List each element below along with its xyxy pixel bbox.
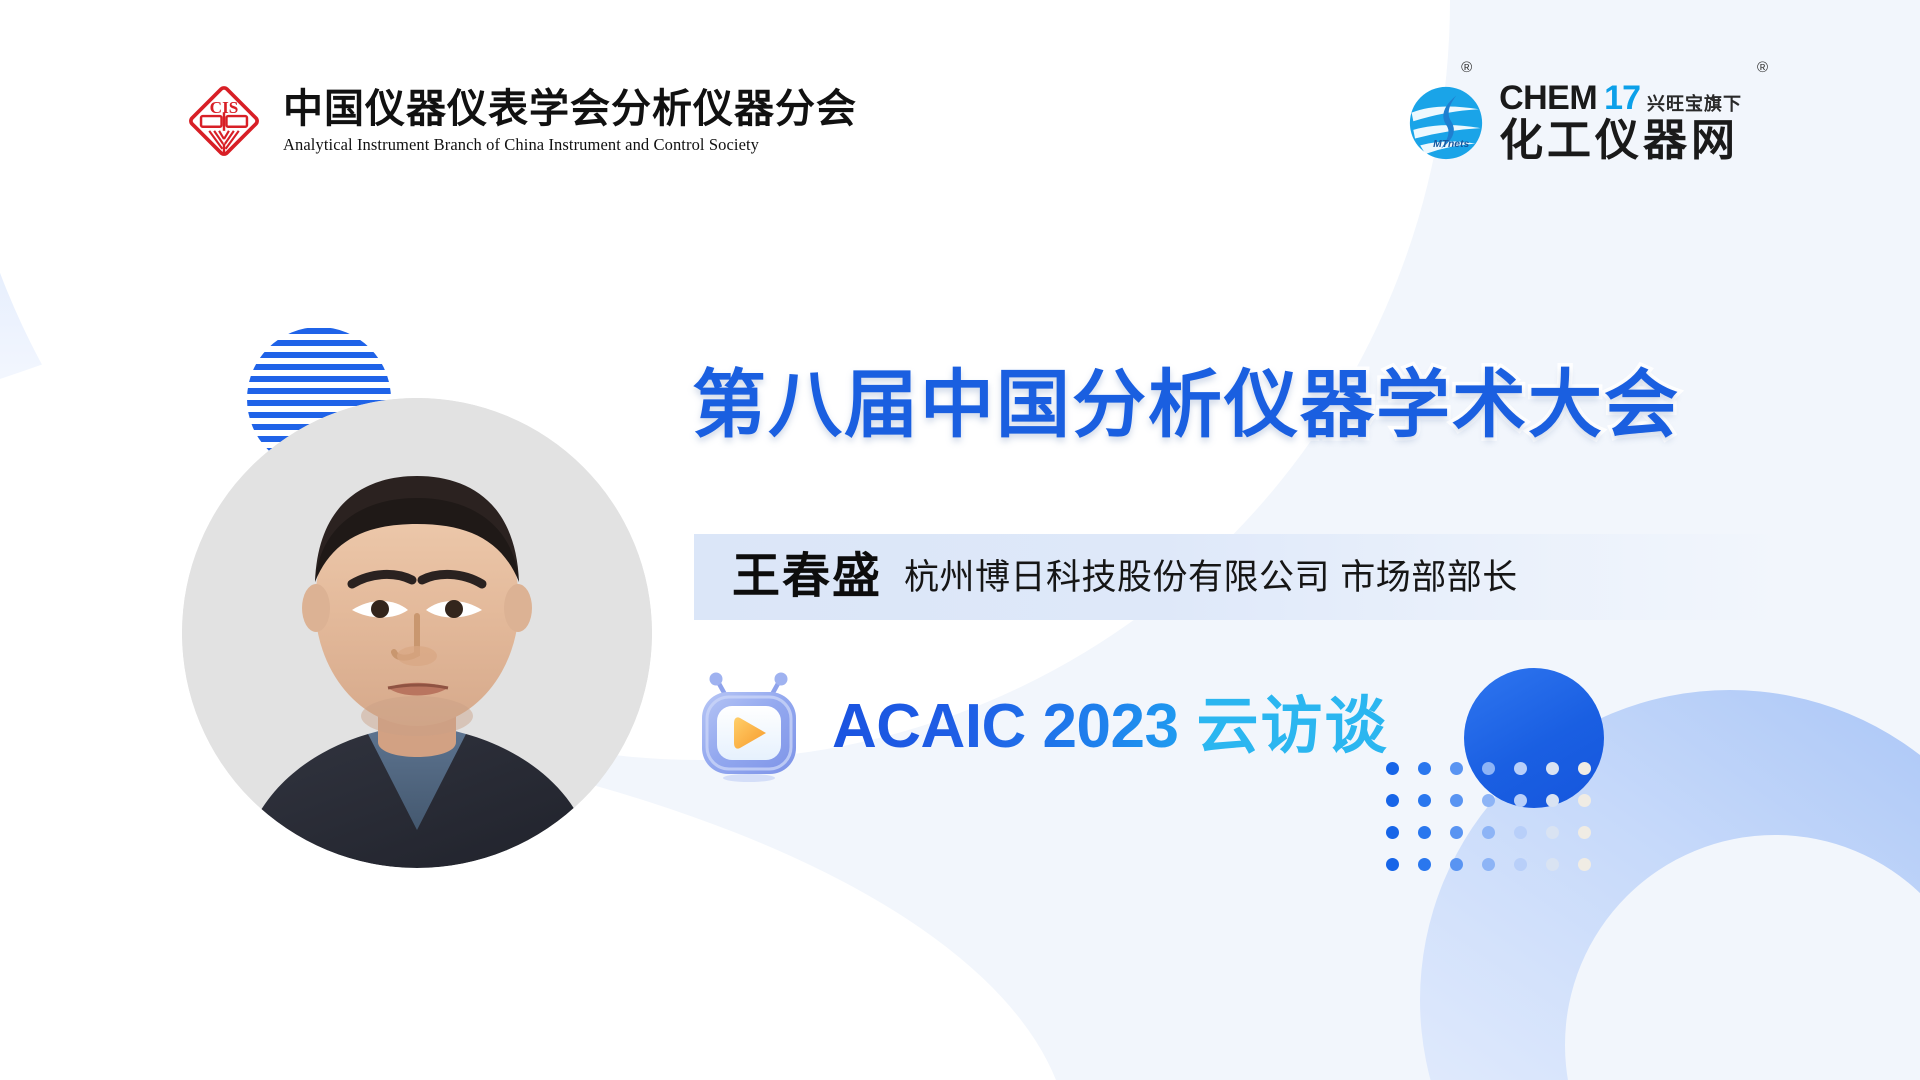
- dot-grid-dot: [1546, 858, 1559, 871]
- dot-grid-dot: [1482, 794, 1495, 807]
- speaker-affiliation: 杭州博日科技股份有限公司 市场部部长: [904, 560, 1518, 595]
- dot-grid-dot: [1578, 826, 1591, 839]
- dot-grid-dot: [1546, 794, 1559, 807]
- poster-stage: CIS 中国仪器仪表学会分析仪器分会 Analytical Instrument…: [0, 0, 1920, 1080]
- dot-grid-dot: [1450, 858, 1463, 871]
- mtnets-globe-icon: MTnets: [1403, 80, 1489, 166]
- dot-grid-dot: [1514, 858, 1527, 871]
- dot-grid-dot: [1578, 762, 1591, 775]
- dot-grid-dot: [1482, 826, 1495, 839]
- cis-org-name-cn: 中国仪器仪表学会分析仪器分会: [283, 87, 857, 130]
- dot-grid-dot: [1386, 794, 1399, 807]
- dot-grid-decoration: [1386, 762, 1610, 890]
- tv-play-icon: [696, 672, 802, 782]
- registered-mark-right-icon: ®: [1757, 59, 1768, 76]
- speaker-info-bar: 王春盛 杭州博日科技股份有限公司 市场部部长: [694, 534, 1790, 620]
- dot-grid-dot: [1418, 858, 1431, 871]
- registered-mark-left-icon: ®: [1461, 59, 1472, 76]
- program-title-cn: 云访谈: [1196, 696, 1388, 758]
- speaker-name: 王春盛: [732, 553, 882, 601]
- dot-grid-dot: [1514, 762, 1527, 775]
- cis-logo-text: 中国仪器仪表学会分析仪器分会 Analytical Instrument Bra…: [283, 87, 857, 154]
- dot-grid-dot: [1546, 826, 1559, 839]
- dot-grid-dot: [1546, 762, 1559, 775]
- speaker-portrait-photo: [182, 398, 652, 868]
- dot-grid-dot: [1450, 826, 1463, 839]
- dot-grid-dot: [1482, 762, 1495, 775]
- program-title-en: ACAIC 2023: [832, 696, 1178, 758]
- chem17-brand-logo: MTnets ® CHEM 17 兴旺宝旗下 ® 化工仪器网: [1403, 80, 1742, 166]
- chem17-brand-suffix: 兴旺宝旗下: [1647, 95, 1742, 113]
- dot-grid-dot: [1450, 762, 1463, 775]
- chem17-brand-word: CHEM: [1499, 81, 1597, 115]
- chem17-logo-text: ® CHEM 17 兴旺宝旗下 ® 化工仪器网: [1499, 81, 1742, 164]
- dot-grid-dot: [1578, 858, 1591, 871]
- dot-grid-dot: [1386, 858, 1399, 871]
- chem17-wordmark-row: ® CHEM 17 兴旺宝旗下 ®: [1499, 81, 1742, 115]
- dot-grid-dot: [1418, 794, 1431, 807]
- dot-grid-dot: [1450, 794, 1463, 807]
- cis-diamond-icon: CIS: [183, 80, 265, 162]
- chem17-brand-number: 17: [1604, 81, 1640, 115]
- dot-grid-dot: [1514, 794, 1527, 807]
- chem17-brand-cn: 化工仪器网: [1499, 118, 1742, 164]
- dot-grid-dot: [1578, 794, 1591, 807]
- dot-grid-dot: [1514, 826, 1527, 839]
- dot-grid-dot: [1418, 762, 1431, 775]
- dot-grid-dot: [1386, 826, 1399, 839]
- dot-grid-dot: [1418, 826, 1431, 839]
- cis-org-name-en: Analytical Instrument Branch of China In…: [283, 135, 857, 155]
- cis-organization-logo: CIS 中国仪器仪表学会分析仪器分会 Analytical Instrument…: [183, 80, 857, 162]
- svg-text:MTnets: MTnets: [1433, 139, 1469, 150]
- page-title: 第八届中国分析仪器学术大会: [692, 368, 1680, 442]
- dot-grid-dot: [1482, 858, 1495, 871]
- program-title-row: ACAIC 2023 云访谈: [696, 672, 1389, 782]
- program-title-text: ACAIC 2023 云访谈: [832, 696, 1389, 758]
